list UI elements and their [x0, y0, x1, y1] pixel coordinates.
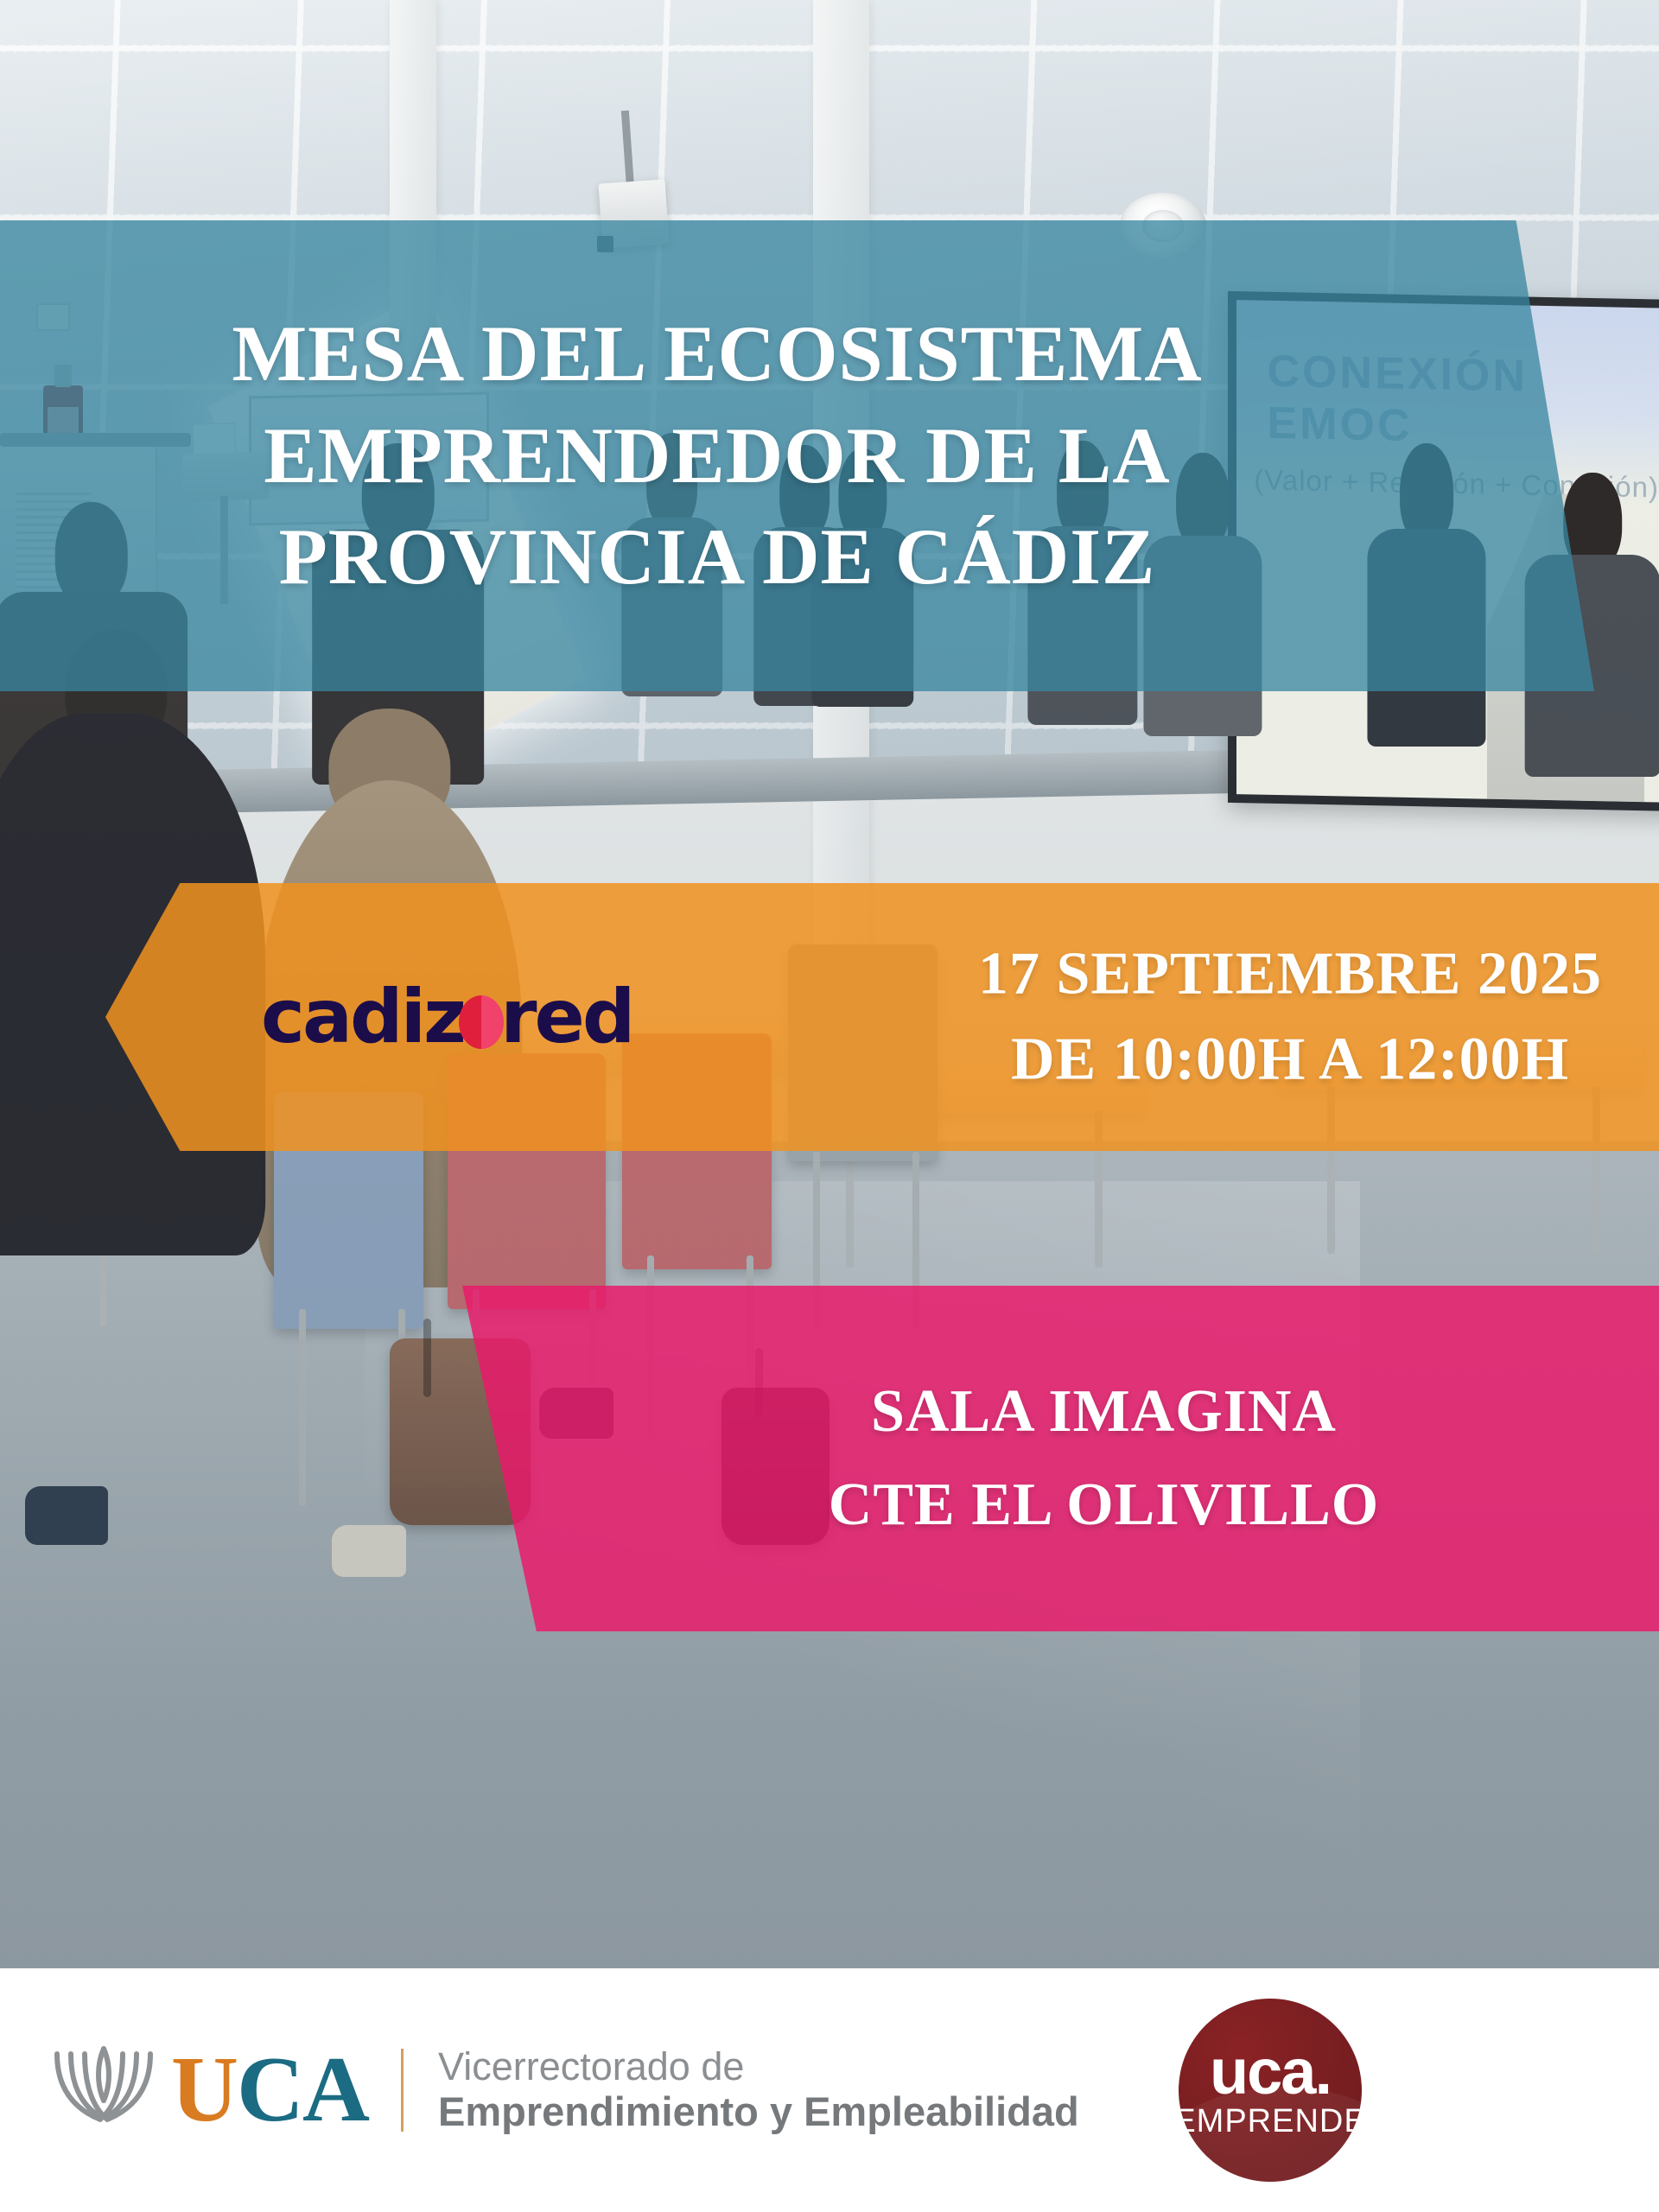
poster-root: CONEXIÓN EMOC (Valor + Relación + Conexi…: [0, 0, 1659, 2212]
uca-logo-text: Vicerrectorado de Emprendimiento y Emple…: [438, 2045, 1079, 2134]
cadizred-dot-left-half: [459, 995, 481, 1049]
title-line-1: MESA DEL ECOSISTEMA: [35, 303, 1400, 405]
uca-emprende-word-uca: uca.: [1210, 2043, 1331, 2101]
title-line-2: EMPRENDEDOR DE LA: [35, 405, 1400, 507]
event-venue: SALA IMAGINA CTE EL OLIVILLO: [742, 1365, 1379, 1553]
title-banner: MESA DEL ECOSISTEMA EMPRENDEDOR DE LA PR…: [0, 220, 1594, 691]
uca-emprende-word-emprende: EMPRENDE: [1179, 2105, 1362, 2138]
date-banner: cadiz red 17 SEPTIEMBRE 2025 DE 10:00H A…: [105, 883, 1659, 1151]
venue-building: CTE EL OLIVILLO: [829, 1459, 1379, 1553]
cadizred-word-first: cadiz: [261, 980, 464, 1054]
venue-banner: SALA IMAGINA CTE EL OLIVILLO: [462, 1286, 1659, 1631]
cadizred-dot-icon: [459, 995, 504, 1049]
event-date: 17 SEPTIEMBRE 2025: [978, 931, 1602, 1017]
uca-text-line-2: Emprendimiento y Empleabilidad: [438, 2089, 1079, 2135]
uca-wheat-emblem-icon: [52, 2045, 156, 2135]
cadizred-word-second: red: [500, 980, 632, 1054]
page-title: MESA DEL ECOSISTEMA EMPRENDEDOR DE LA PR…: [0, 303, 1400, 608]
uca-letters-ca: CA: [237, 2044, 368, 2137]
event-datetime: 17 SEPTIEMBRE 2025 DE 10:00H A 12:00H: [978, 931, 1602, 1103]
shoe: [332, 1525, 406, 1576]
cadizred-logo: cadiz red: [261, 980, 632, 1054]
chair-leg: [299, 1309, 306, 1506]
uca-letter-u: U: [171, 2044, 237, 2137]
cadizred-dot-right-half: [481, 995, 504, 1049]
uca-emprende-logo: uca. EMPRENDE: [1179, 1999, 1362, 2182]
title-line-3: PROVINCIA DE CÁDIZ: [35, 506, 1400, 608]
backpack-strap: [423, 1319, 431, 1397]
event-time: DE 10:00H A 12:00H: [978, 1017, 1602, 1103]
footer-bar: U CA Vicerrectorado de Emprendimiento y …: [0, 1968, 1659, 2212]
shoe: [25, 1486, 108, 1545]
venue-room: SALA IMAGINA: [829, 1365, 1379, 1459]
uca-vicerrectorado-logo: U CA Vicerrectorado de Emprendimiento y …: [52, 2044, 1079, 2137]
logo-divider: [401, 2049, 404, 2132]
uca-text-line-1: Vicerrectorado de: [438, 2045, 1079, 2088]
uca-letters: U CA: [171, 2044, 368, 2137]
